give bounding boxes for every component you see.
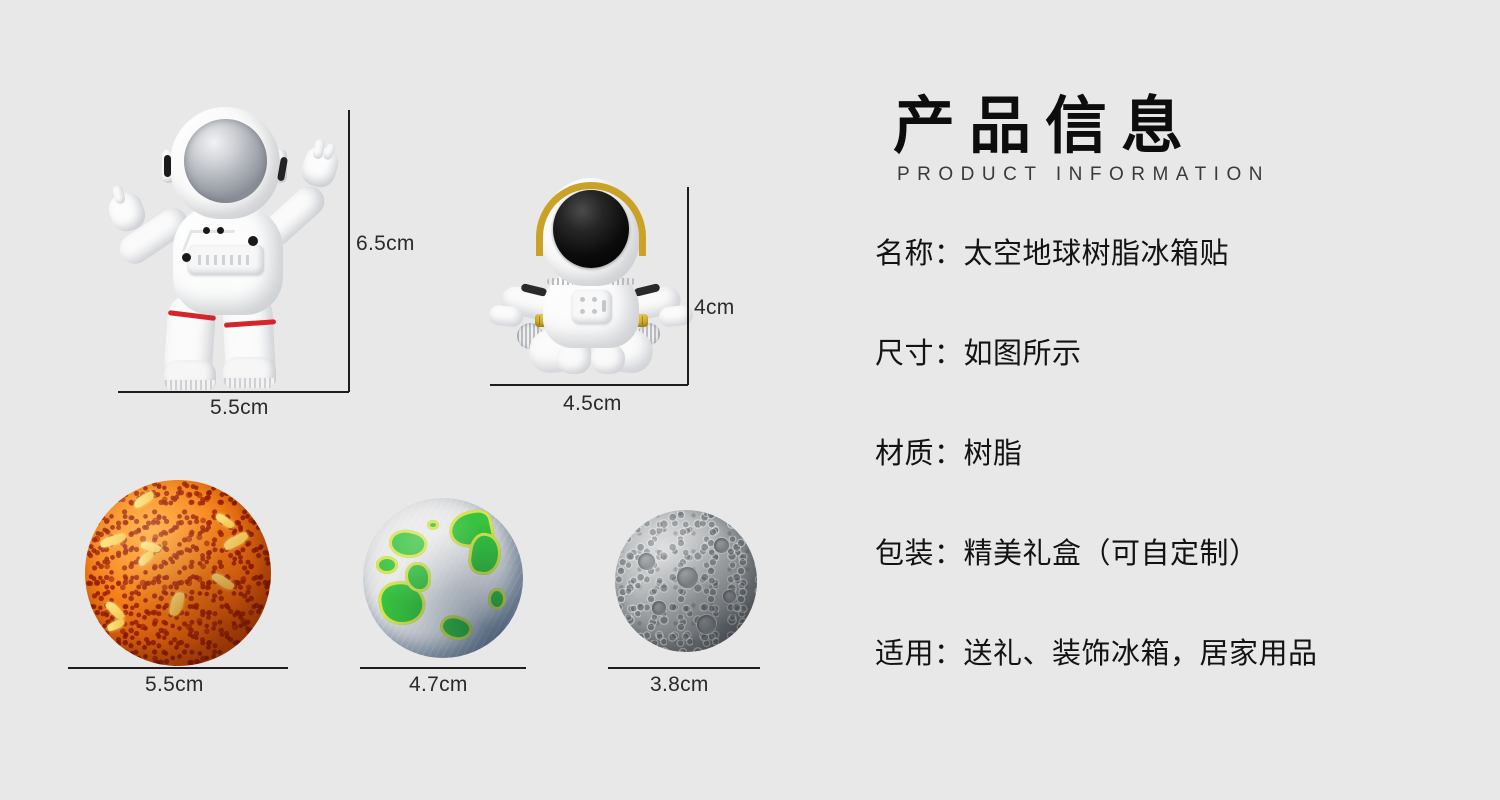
dimension-label-width-astronaut-meditating: 4.5cm [563, 392, 622, 416]
sun-icon [85, 480, 271, 666]
astronaut-standing-icon [118, 105, 333, 390]
astronaut-meditating-icon [495, 178, 685, 384]
dimension-line-vertical-astronaut-standing [348, 110, 350, 392]
dimension-label-height-astronaut-meditating: 4cm [694, 296, 735, 320]
earth-icon [363, 498, 523, 658]
dimension-label-width-astronaut-standing: 5.5cm [210, 396, 269, 420]
dimension-line-horizontal-astronaut-standing [118, 391, 349, 393]
dimension-line-vertical-astronaut-meditating [687, 187, 689, 385]
dimension-label-height-astronaut-standing: 6.5cm [356, 232, 415, 256]
page-title: 产品信息 [893, 95, 1475, 160]
dimension-label-width-sun: 5.5cm [145, 673, 204, 697]
spec-item-usage: 适用：送礼、装饰冰箱，居家用品 [875, 640, 1475, 669]
product-info-page: 5.5cm 6.5cm 4.5cm 4cm [0, 0, 1500, 800]
dimension-line-moon [608, 667, 760, 669]
dimension-label-width-moon: 3.8cm [650, 673, 709, 697]
spec-item-packaging: 包装：精美礼盒（可自定制） [875, 540, 1475, 569]
moon-icon [615, 510, 757, 652]
dimension-label-width-earth: 4.7cm [409, 673, 468, 697]
spec-item-material: 材质：树脂 [875, 440, 1475, 469]
dimension-line-sun [68, 667, 288, 669]
spec-list: 名称：太空地球树脂冰箱贴 尺寸：如图所示 材质：树脂 包装：精美礼盒（可自定制）… [875, 240, 1475, 669]
product-info-panel: 产品信息 PRODUCT INFORMATION 名称：太空地球树脂冰箱贴 尺寸… [875, 95, 1475, 669]
page-subtitle: PRODUCT INFORMATION [897, 164, 1475, 186]
dimension-line-earth [360, 667, 526, 669]
dimension-line-horizontal-astronaut-meditating [490, 384, 688, 386]
spec-item-size: 尺寸：如图所示 [875, 340, 1475, 369]
spec-item-name: 名称：太空地球树脂冰箱贴 [875, 240, 1475, 269]
